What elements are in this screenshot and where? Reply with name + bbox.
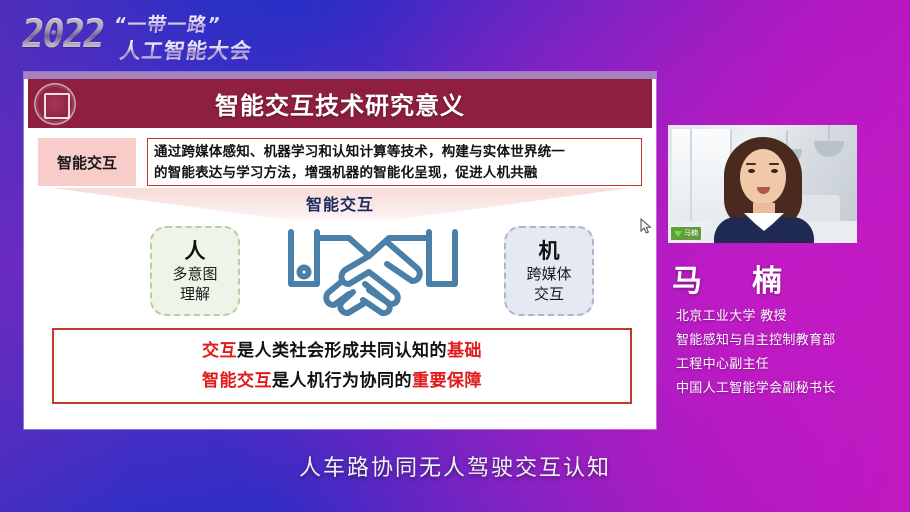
affiliation-line-4: 中国人工智能学会副秘书长 (676, 377, 901, 401)
conclusion-box: 交互是人类社会形成共同认知的基础 智能交互是人机行为协同的重要保障 (52, 328, 632, 404)
conference-logo: 2022 “一带一路” 人工智能大会 (22, 8, 272, 64)
conclusion-line-1: 交互是人类社会形成共同认知的基础 (202, 336, 482, 366)
speaker-brow-left (746, 163, 756, 165)
conclusion-2-highlight-b: 重要保障 (412, 371, 482, 391)
funnel-label: 智能交互 (24, 191, 656, 215)
slide-surface[interactable]: 智能交互技术研究意义 智能交互 通过跨媒体感知、机器学习和认知计算等技术，构建与… (24, 72, 656, 429)
slide-header: 智能交互技术研究意义 (28, 79, 652, 128)
speaker-video[interactable]: 马楠 (668, 125, 857, 243)
speaker-eye-right (771, 169, 778, 173)
handshake-icon (283, 222, 463, 318)
pillar-machine-sub-2: 交互 (534, 284, 564, 304)
conference-year: 2022 (19, 11, 107, 57)
pillar-human-title: 人 (185, 239, 206, 264)
definition-line-2: 的智能表达与学习方法，增强机器的智能化呈现，促进人机共融 (154, 163, 635, 184)
pillars-row: 人 多意图 理解 机 (38, 222, 642, 320)
session-caption: 人车路协同无人驾驶交互认知 (0, 450, 910, 482)
speaker-eye-left (748, 169, 755, 173)
pillar-machine: 机 跨媒体 交互 (504, 226, 594, 316)
speaker-name: 马 楠 (672, 256, 902, 300)
definition-line-1: 通过跨媒体感知、机器学习和认知计算等技术，构建与实体世界统一 (154, 142, 635, 163)
slide-title: 智能交互技术研究意义 (215, 86, 465, 121)
office-window (672, 129, 732, 221)
conclusion-line-2: 智能交互是人机行为协同的重要保障 (202, 366, 482, 396)
pillar-human-sub-1: 多意图 (172, 264, 217, 284)
pillar-machine-title: 机 (539, 239, 560, 264)
slide-top-strip (24, 72, 656, 79)
pillar-human-sub-2: 理解 (180, 284, 210, 304)
presentation-stage: 2022 “一带一路” 人工智能大会 智能交互技术研究意义 智能交互 通过跨媒体… (0, 0, 910, 512)
download-arrow-icon (674, 231, 682, 237)
video-badge-label: 马楠 (684, 227, 698, 240)
conference-theme: “一带一路” (112, 10, 223, 37)
university-seal-icon (34, 83, 76, 125)
conclusion-2-mid: 是人机行为协同的 (272, 371, 412, 391)
pillar-human: 人 多意图 理解 (150, 226, 240, 316)
affiliation-line-3: 工程中心副主任 (676, 353, 901, 377)
speaker-affiliations: 北京工业大学 教授 智能感知与自主控制教育部 工程中心副主任 中国人工智能学会副… (676, 305, 901, 401)
mouse-pointer-icon (640, 218, 652, 235)
affiliation-line-1: 北京工业大学 教授 (676, 305, 901, 329)
affiliation-line-2: 智能感知与自主控制教育部 (676, 329, 901, 353)
speaker-face (740, 149, 786, 205)
pillar-machine-sub-1: 跨媒体 (526, 264, 571, 284)
conclusion-1-highlight-a: 交互 (202, 341, 237, 361)
conference-name: 人工智能大会 (118, 35, 254, 65)
window-mullion (690, 129, 692, 221)
definition-band: 智能交互 通过跨媒体感知、机器学习和认知计算等技术，构建与实体世界统一 的智能表… (38, 138, 642, 186)
conclusion-1-mid: 是人类社会形成共同认知的 (237, 341, 447, 361)
speaker-brow-right (769, 163, 779, 165)
definition-tag: 智能交互 (38, 138, 136, 186)
conclusion-1-highlight-b: 基础 (447, 341, 482, 361)
conclusion-2-highlight-a: 智能交互 (202, 371, 272, 391)
definition-box: 通过跨媒体感知、机器学习和认知计算等技术，构建与实体世界统一 的智能表达与学习方… (147, 138, 642, 186)
video-name-badge: 马楠 (671, 227, 701, 240)
